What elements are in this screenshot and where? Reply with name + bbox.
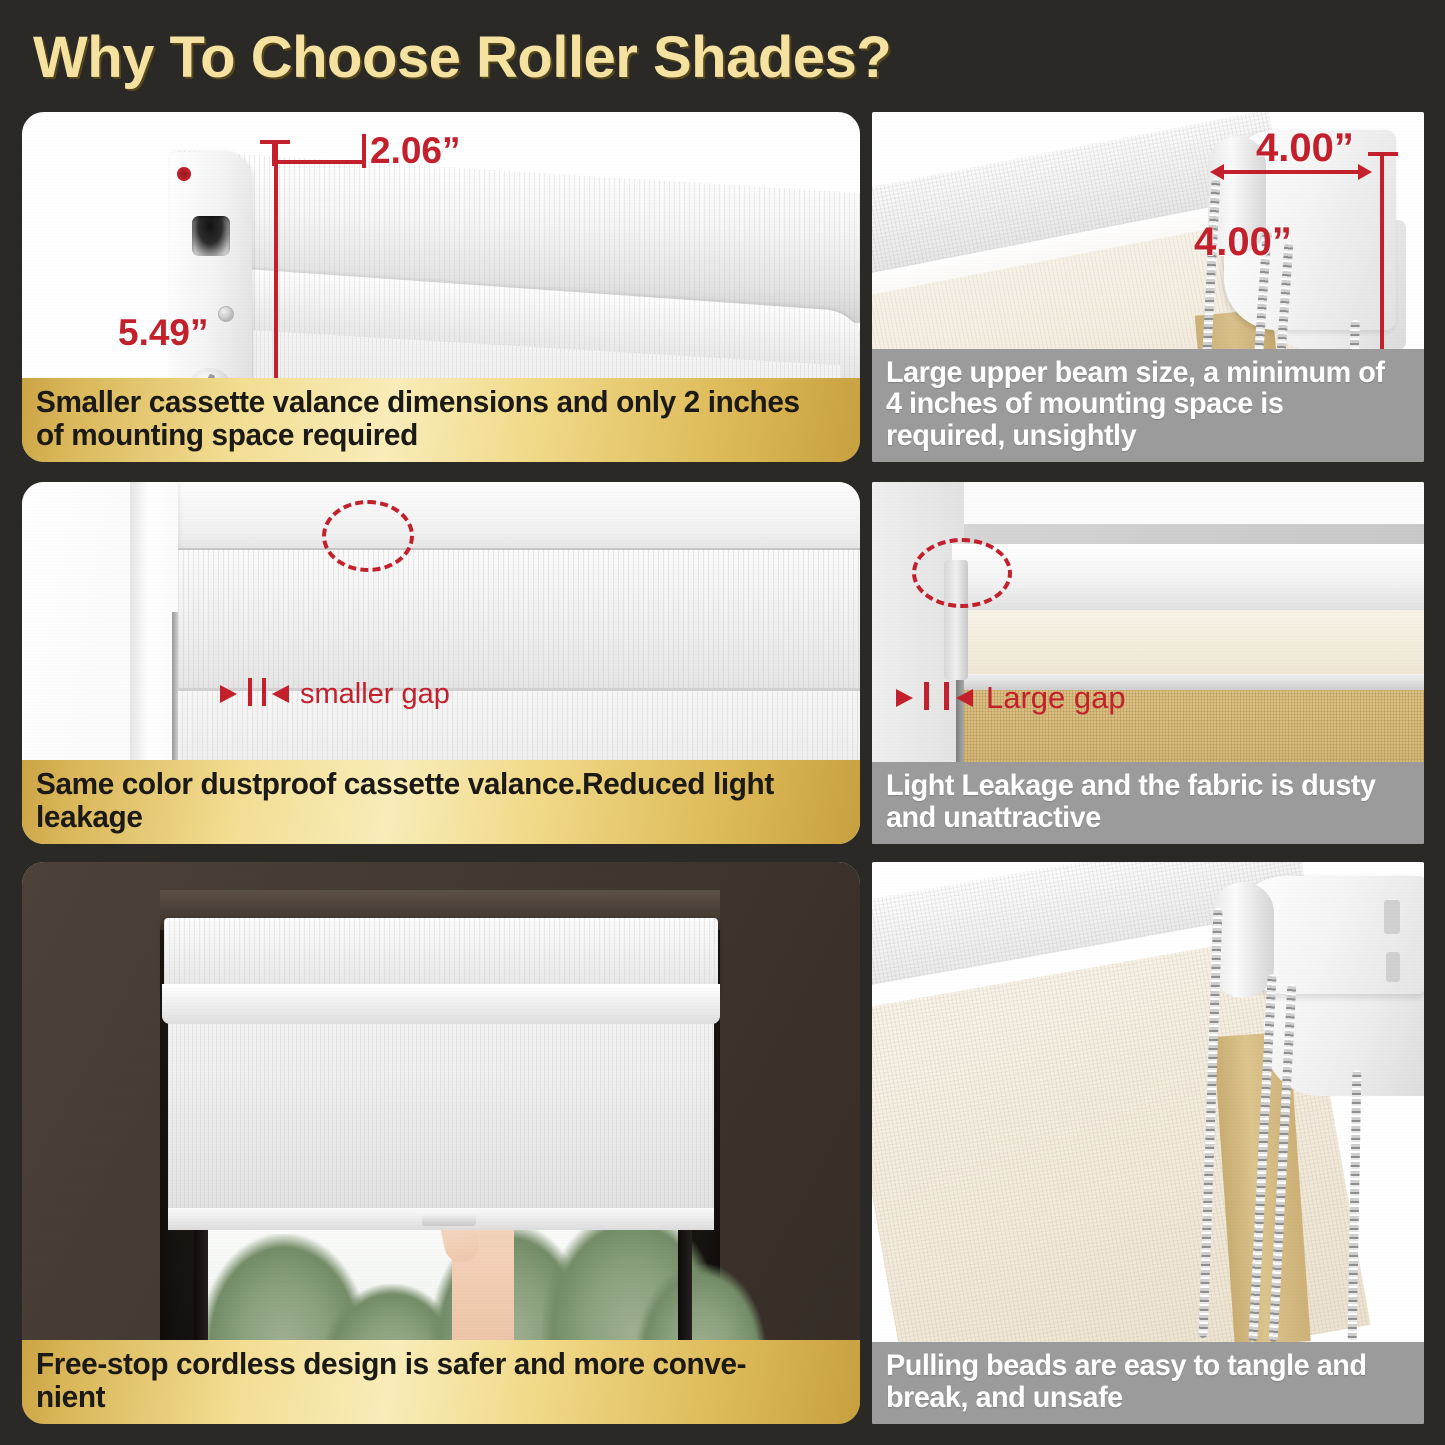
gap-arrow-left	[272, 685, 289, 703]
dim-arrow-right-400w	[1358, 164, 1372, 180]
dimension-label-206: 2.06”	[370, 130, 461, 172]
panel-4: Large gap Light Leakage and the fabric i…	[872, 482, 1424, 844]
dim-tick-top-400h	[1368, 152, 1398, 156]
panel-6: Pulling beads are easy to tangle and bre…	[872, 862, 1424, 1424]
gap-arrow-right	[220, 685, 237, 703]
cassette-headrail-lip	[162, 984, 720, 1024]
panel-2-caption-text: Large upper beam size, a minimum of 4 in…	[886, 357, 1389, 452]
panel-5: Free-stop cordless design is safer and m…	[22, 862, 860, 1424]
panel-1-caption: Smaller cassette valance dimensions and …	[22, 378, 860, 462]
gap-label-large: Large gap	[986, 680, 1126, 716]
panel-5-caption-text: Free-stop cordless design is safer and m…	[36, 1348, 814, 1414]
screw-icon	[218, 306, 234, 322]
bracket-slot-icon	[1386, 952, 1400, 982]
dim-line-height-400	[1380, 154, 1384, 354]
panel-3-caption-text: Same color dustproof cassette valance.Re…	[36, 768, 814, 834]
dimension-label-400-width: 4.00”	[1256, 126, 1354, 171]
panel-5-caption: Free-stop cordless design is safer and m…	[22, 1340, 860, 1424]
highlight-ellipse-icon	[912, 538, 1012, 608]
panel-2-caption: Large upper beam size, a minimum of 4 in…	[872, 349, 1424, 462]
gap-tick-right	[944, 682, 949, 710]
panel-1: 2.06” 5.49” Smaller cassette valance dim…	[22, 112, 860, 462]
roller-shade-fabric	[168, 1020, 714, 1220]
gap-arrow-left	[956, 689, 973, 707]
infographic-page: Why To Choose Roller Shades? 2.06”	[0, 0, 1445, 1445]
page-title: Why To Choose Roller Shades?	[33, 24, 891, 91]
panel-4-caption: Light Leakage and the fabric is dusty an…	[872, 762, 1424, 844]
panel-6-caption-text: Pulling beads are easy to tangle and bre…	[886, 1350, 1389, 1414]
dimension-label-549: 5.49”	[118, 312, 209, 354]
panel-6-caption: Pulling beads are easy to tangle and bre…	[872, 1342, 1424, 1424]
gap-tick-left	[248, 678, 252, 706]
cassette-headrail	[164, 918, 718, 994]
dim-tick-top-549	[260, 140, 290, 144]
gap-arrow-right	[896, 689, 913, 707]
gap-tick-right	[262, 678, 266, 706]
cordless-grip-handle	[422, 1214, 476, 1226]
panel-6-photo	[872, 862, 1424, 1424]
panel-3-caption: Same color dustproof cassette valance.Re…	[22, 760, 860, 844]
panel-2: 4.00” 4.00” Large upper beam size, a min…	[872, 112, 1424, 462]
dim-arrow-left-400w	[1210, 164, 1224, 180]
panel-1-caption-text: Smaller cassette valance dimensions and …	[36, 386, 814, 452]
dim-line-width-206	[274, 160, 366, 164]
dimension-label-400-height: 4.00”	[1194, 220, 1292, 265]
valance-slot-icon	[192, 216, 230, 256]
window-frame-top	[130, 482, 860, 554]
panel-3: smaller gap Same color dustproof cassett…	[22, 482, 860, 844]
roller-headrail	[952, 544, 1424, 618]
bracket-slot-icon	[1384, 900, 1400, 934]
gap-tick-left	[924, 682, 929, 710]
highlight-ellipse-icon	[322, 500, 414, 572]
gap-label-smaller: smaller gap	[300, 678, 450, 711]
red-screw-marker-icon	[177, 167, 191, 181]
dustproof-cassette-valance	[178, 548, 860, 688]
cream-fabric-band	[956, 610, 1424, 678]
panel-4-caption-text: Light Leakage and the fabric is dusty an…	[886, 770, 1389, 834]
dim-tick-right-206	[362, 134, 366, 168]
